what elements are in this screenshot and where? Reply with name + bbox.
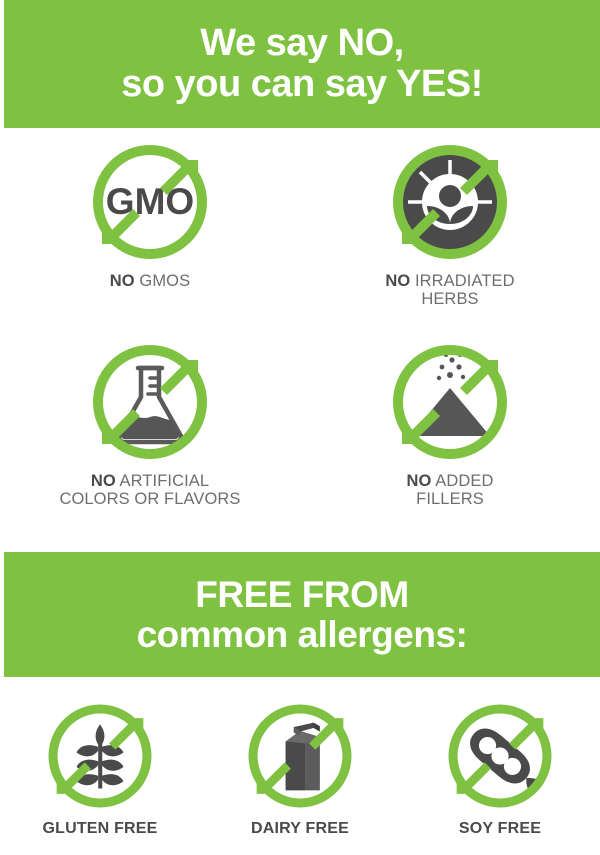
gluten-free-item: GLUTEN FREE [42,700,157,838]
no-added-fillers-caption: NO ADDED FILLERS [407,472,494,509]
soy-free-caption: SOY FREE [459,820,541,838]
header-banner-line-1: We say NO, [200,23,403,64]
allergen-banner-line-2: common allergens: [137,615,468,655]
soy-free-item: SOY FREE [444,700,556,838]
no-added-fillers-item: NO ADDED FILLERS [388,340,512,509]
dairy-free-icon [244,700,356,812]
header-banner-line-2: so you can say YES! [121,64,483,105]
caption-text: IRRADIATED HERBS [410,272,514,308]
caption-prefix-no: NO [407,472,432,490]
no-claims-grid: GMO NO GMOS [0,140,600,540]
infographic-page: We say NO, so you can say YES! GMO [0,0,600,855]
allergen-free-grid: GLUTEN FREE [0,700,600,855]
no-artificial-colors-flavors-item: NO ARTIFICIAL COLORS OR FLAVORS [59,340,240,509]
no-artificial-colors-flavors-caption: NO ARTIFICIAL COLORS OR FLAVORS [59,472,240,509]
dairy-free-item: DAIRY FREE [244,700,356,838]
gluten-free-icon [44,700,156,812]
no-added-fillers-icon [388,340,512,464]
soy-free-icon [444,700,556,812]
caption-text: GMOS [135,272,191,290]
no-gmo-icon: GMO [88,140,212,264]
gmo-text: GMO [106,181,194,222]
no-irradiated-herbs-caption: NO IRRADIATED HERBS [385,272,514,309]
milk-carton-shape [286,723,320,791]
caption-prefix-no: NO [91,472,116,490]
no-irradiated-herbs-icon [388,140,512,264]
caption-text: ARTIFICIAL COLORS OR FLAVORS [59,472,240,508]
gluten-free-caption: GLUTEN FREE [42,820,157,838]
no-irradiated-herbs-item: NO IRRADIATED HERBS [385,140,514,309]
caption-prefix-no: NO [110,272,135,290]
caption-prefix-no: NO [385,272,410,290]
allergen-banner-line-1: FREE FROM [195,575,408,615]
no-gmos-item: GMO NO GMOS [88,140,212,290]
wheat-shape [77,724,124,788]
dairy-free-caption: DAIRY FREE [251,820,349,838]
allergen-banner: FREE FROM common allergens: [4,552,600,677]
no-gmos-caption: NO GMOS [110,272,190,290]
no-artificial-colors-flavors-icon [88,340,212,464]
header-banner-no-say-yes: We say NO, so you can say YES! [4,0,600,128]
